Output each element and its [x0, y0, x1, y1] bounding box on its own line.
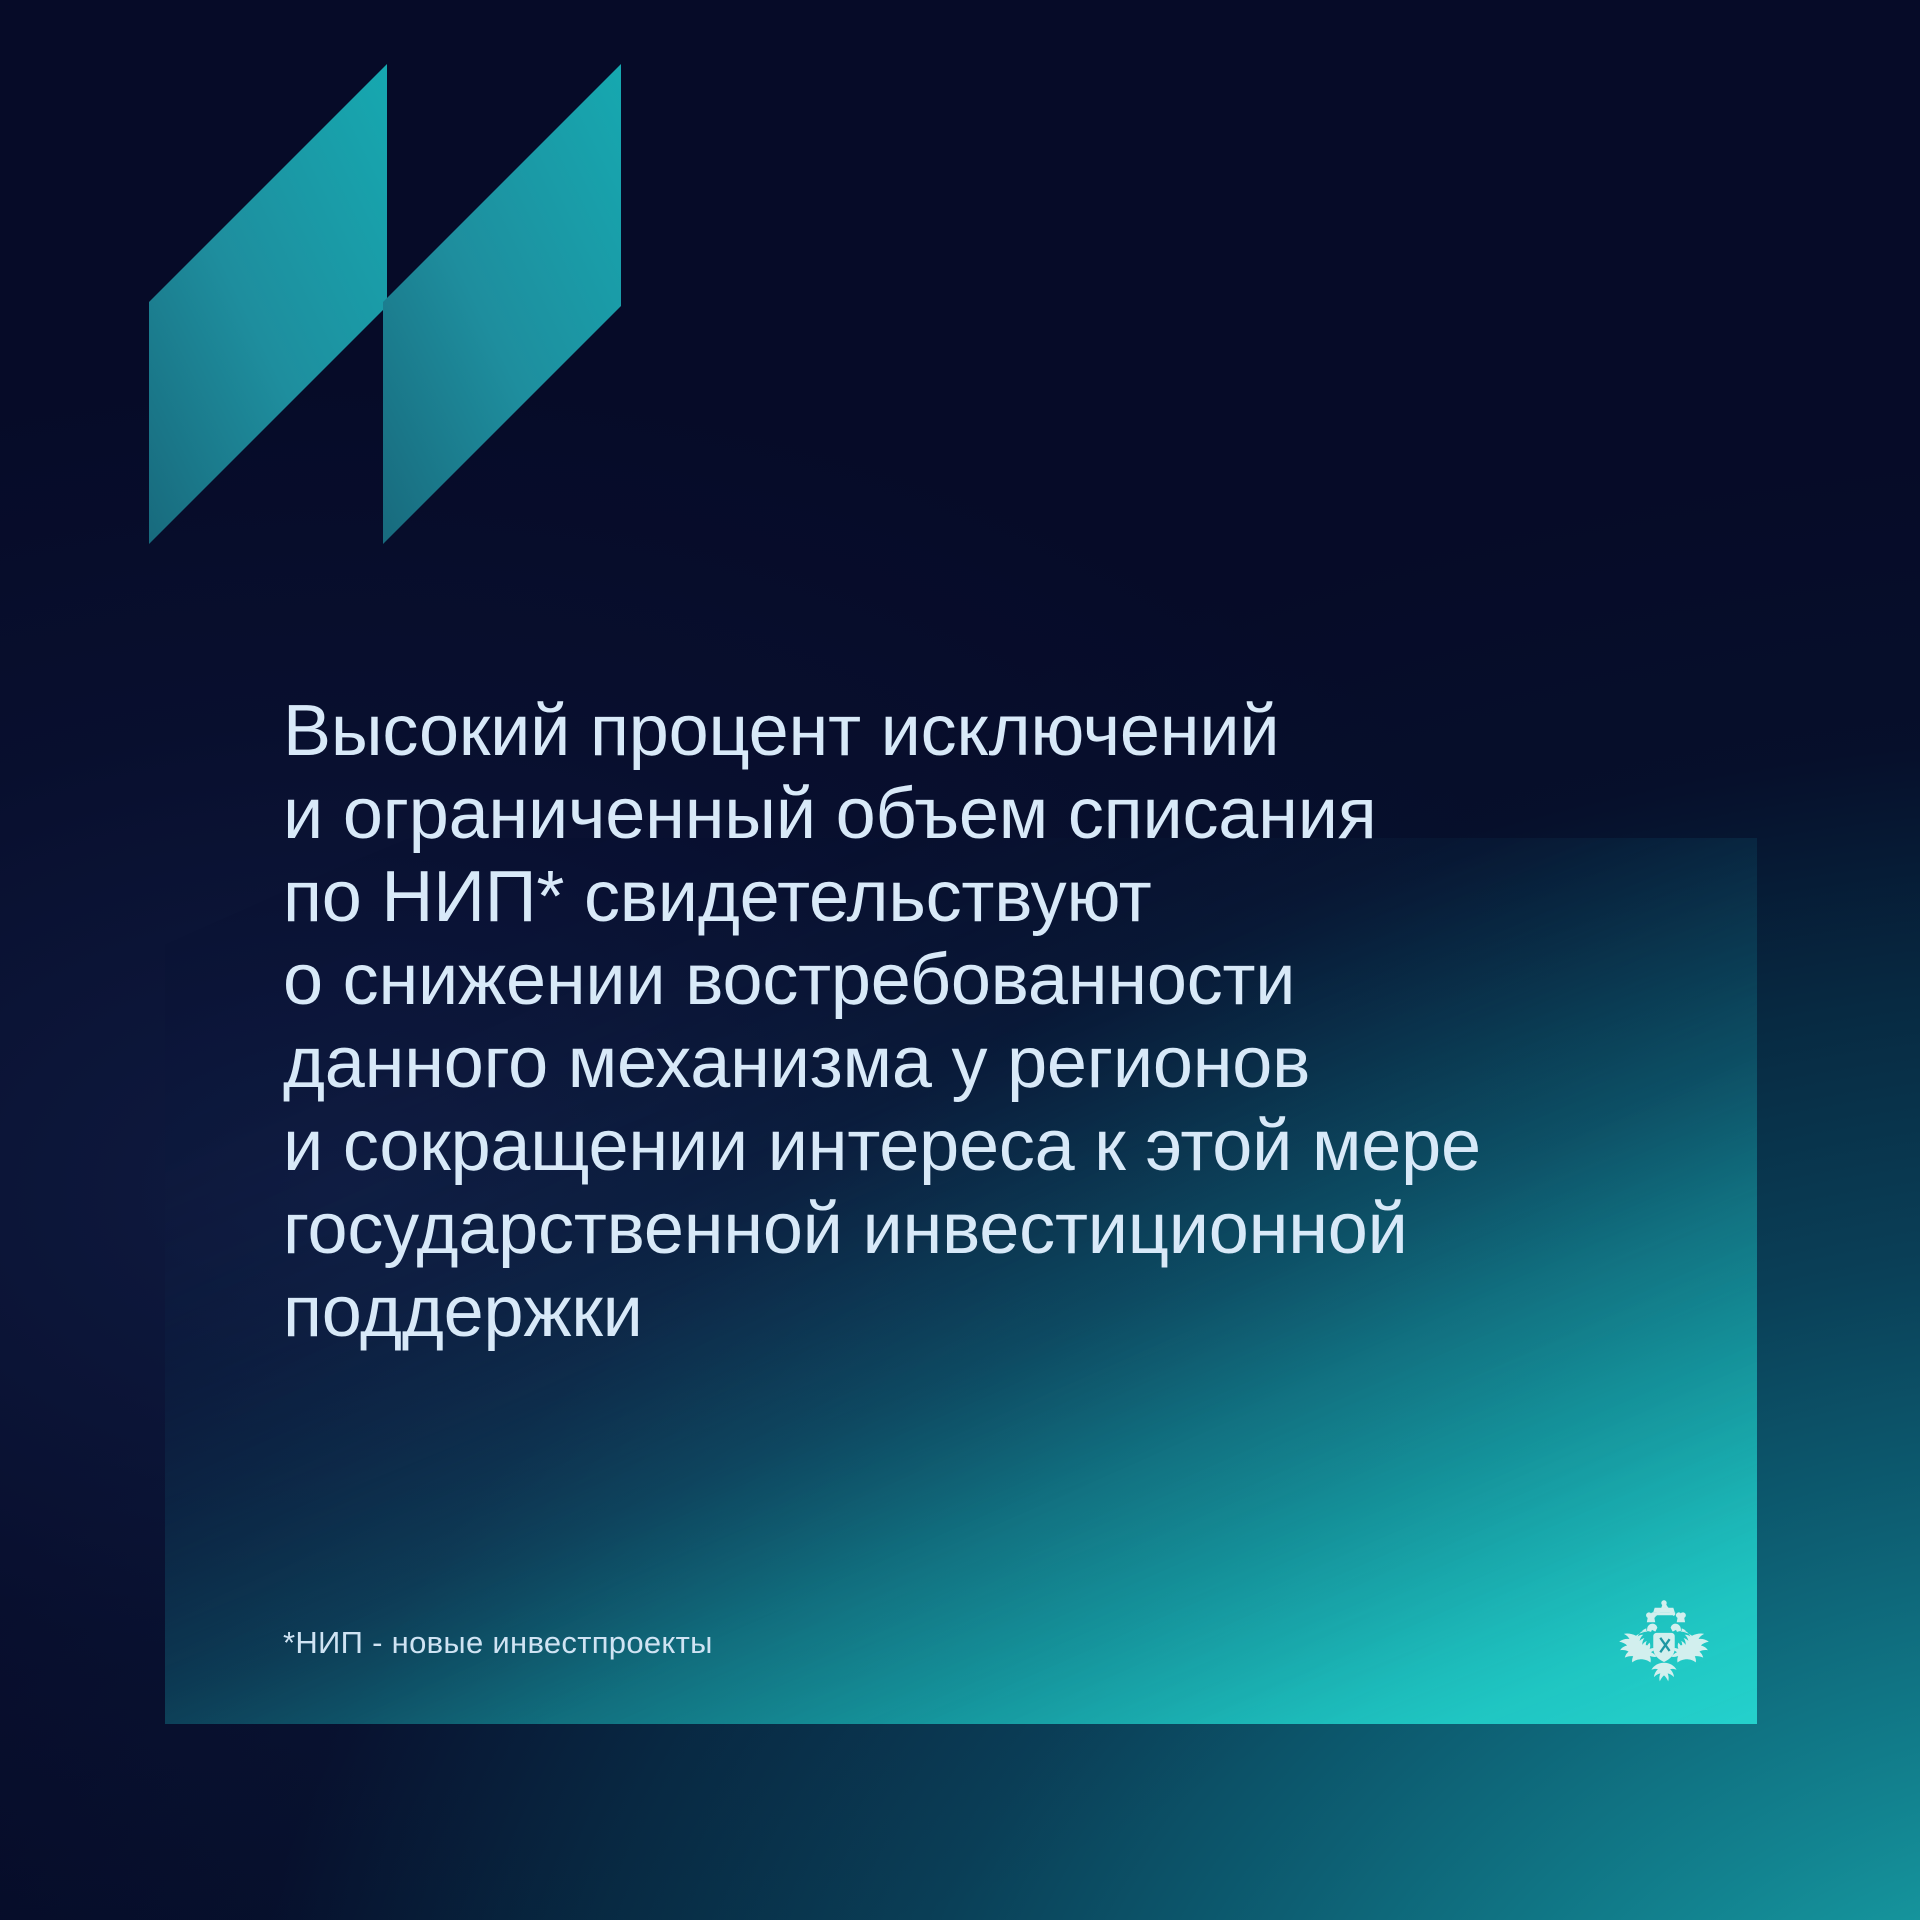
- logo-shape-left: [149, 64, 387, 544]
- page-title: Высокий процент исключений и ограниченны…: [283, 690, 1703, 1354]
- brand-logo: [143, 58, 763, 550]
- footnote-nip: *НИП - новые инвестпроекты: [283, 1623, 713, 1663]
- slide-canvas: Высокий процент исключений и ограниченны…: [0, 0, 1920, 1920]
- logo-shape-right: [383, 64, 621, 544]
- russian-double-headed-eagle-icon: [1608, 1590, 1720, 1702]
